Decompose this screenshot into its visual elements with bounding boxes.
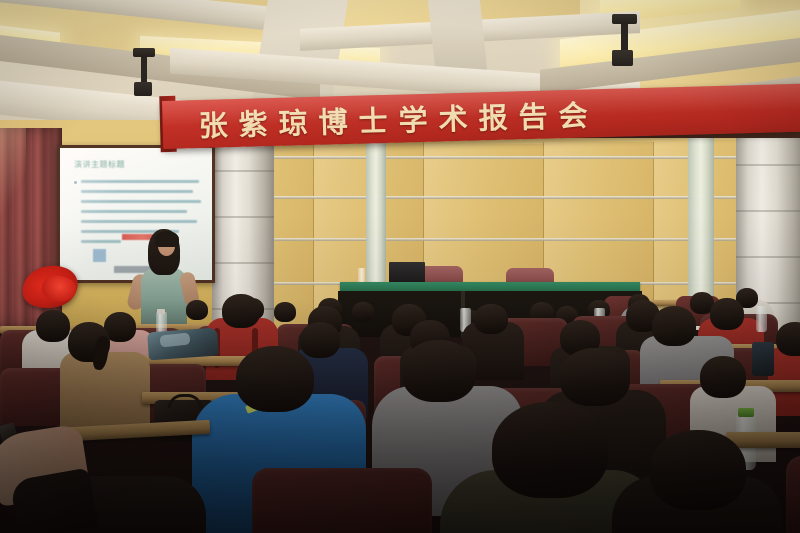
attendee-head-grey-shirt (402, 340, 476, 402)
attendee-head-row2-white (700, 356, 746, 398)
ceiling-speaker-right (612, 50, 633, 66)
water-bottle-row4-1-cap (157, 309, 165, 314)
ceiling-speaker-left-bracket (133, 48, 155, 57)
attendee-head-row2-dark (560, 348, 630, 406)
water-bottle-row4-2 (756, 306, 767, 332)
seat-front-2 (786, 456, 800, 533)
attendee-head-row3-grey (652, 306, 696, 346)
attendee-head-row3-red (776, 322, 800, 356)
wall-panel-seam-1 (313, 142, 314, 330)
ceiling-speaker-left (134, 82, 152, 96)
lecture-hall-photo: 演讲主题标题 张紫琼博士学术报告会 (0, 0, 800, 533)
attendee-head-row4-red-hoodie (222, 294, 260, 328)
presenter-fringe (155, 231, 179, 247)
presenter-laptop-screen (389, 262, 425, 284)
attendee-head-row3-navy (300, 322, 340, 358)
attendee-head-far-13 (186, 300, 208, 320)
projection-screen-frame: 演讲主题标题 (57, 145, 215, 283)
attendee-head-row4-5 (474, 304, 508, 334)
seat-front-1 (252, 468, 432, 533)
thermos-on-desk (752, 342, 774, 376)
attendee-head-blue-jacket (236, 346, 314, 412)
attendee-head-olive-jacket (492, 402, 608, 498)
attendee-head-row4-7 (710, 298, 744, 330)
attendee-head-far-10 (352, 302, 374, 322)
water-bottle-row2-right-cap (738, 408, 754, 417)
ceiling-speaker-right-bracket (612, 14, 637, 24)
attendee-head-far-12 (274, 302, 296, 322)
screen-glare (60, 148, 145, 280)
attendee-head-row4-1 (36, 310, 70, 342)
stage-table-top (340, 282, 640, 291)
projection-screen: 演讲主题标题 (60, 148, 212, 280)
attendee-head-front-dark (650, 430, 746, 510)
curtain-light-glow (0, 128, 26, 218)
banner-title-text: 张紫琼博士学术报告会 (198, 92, 599, 145)
